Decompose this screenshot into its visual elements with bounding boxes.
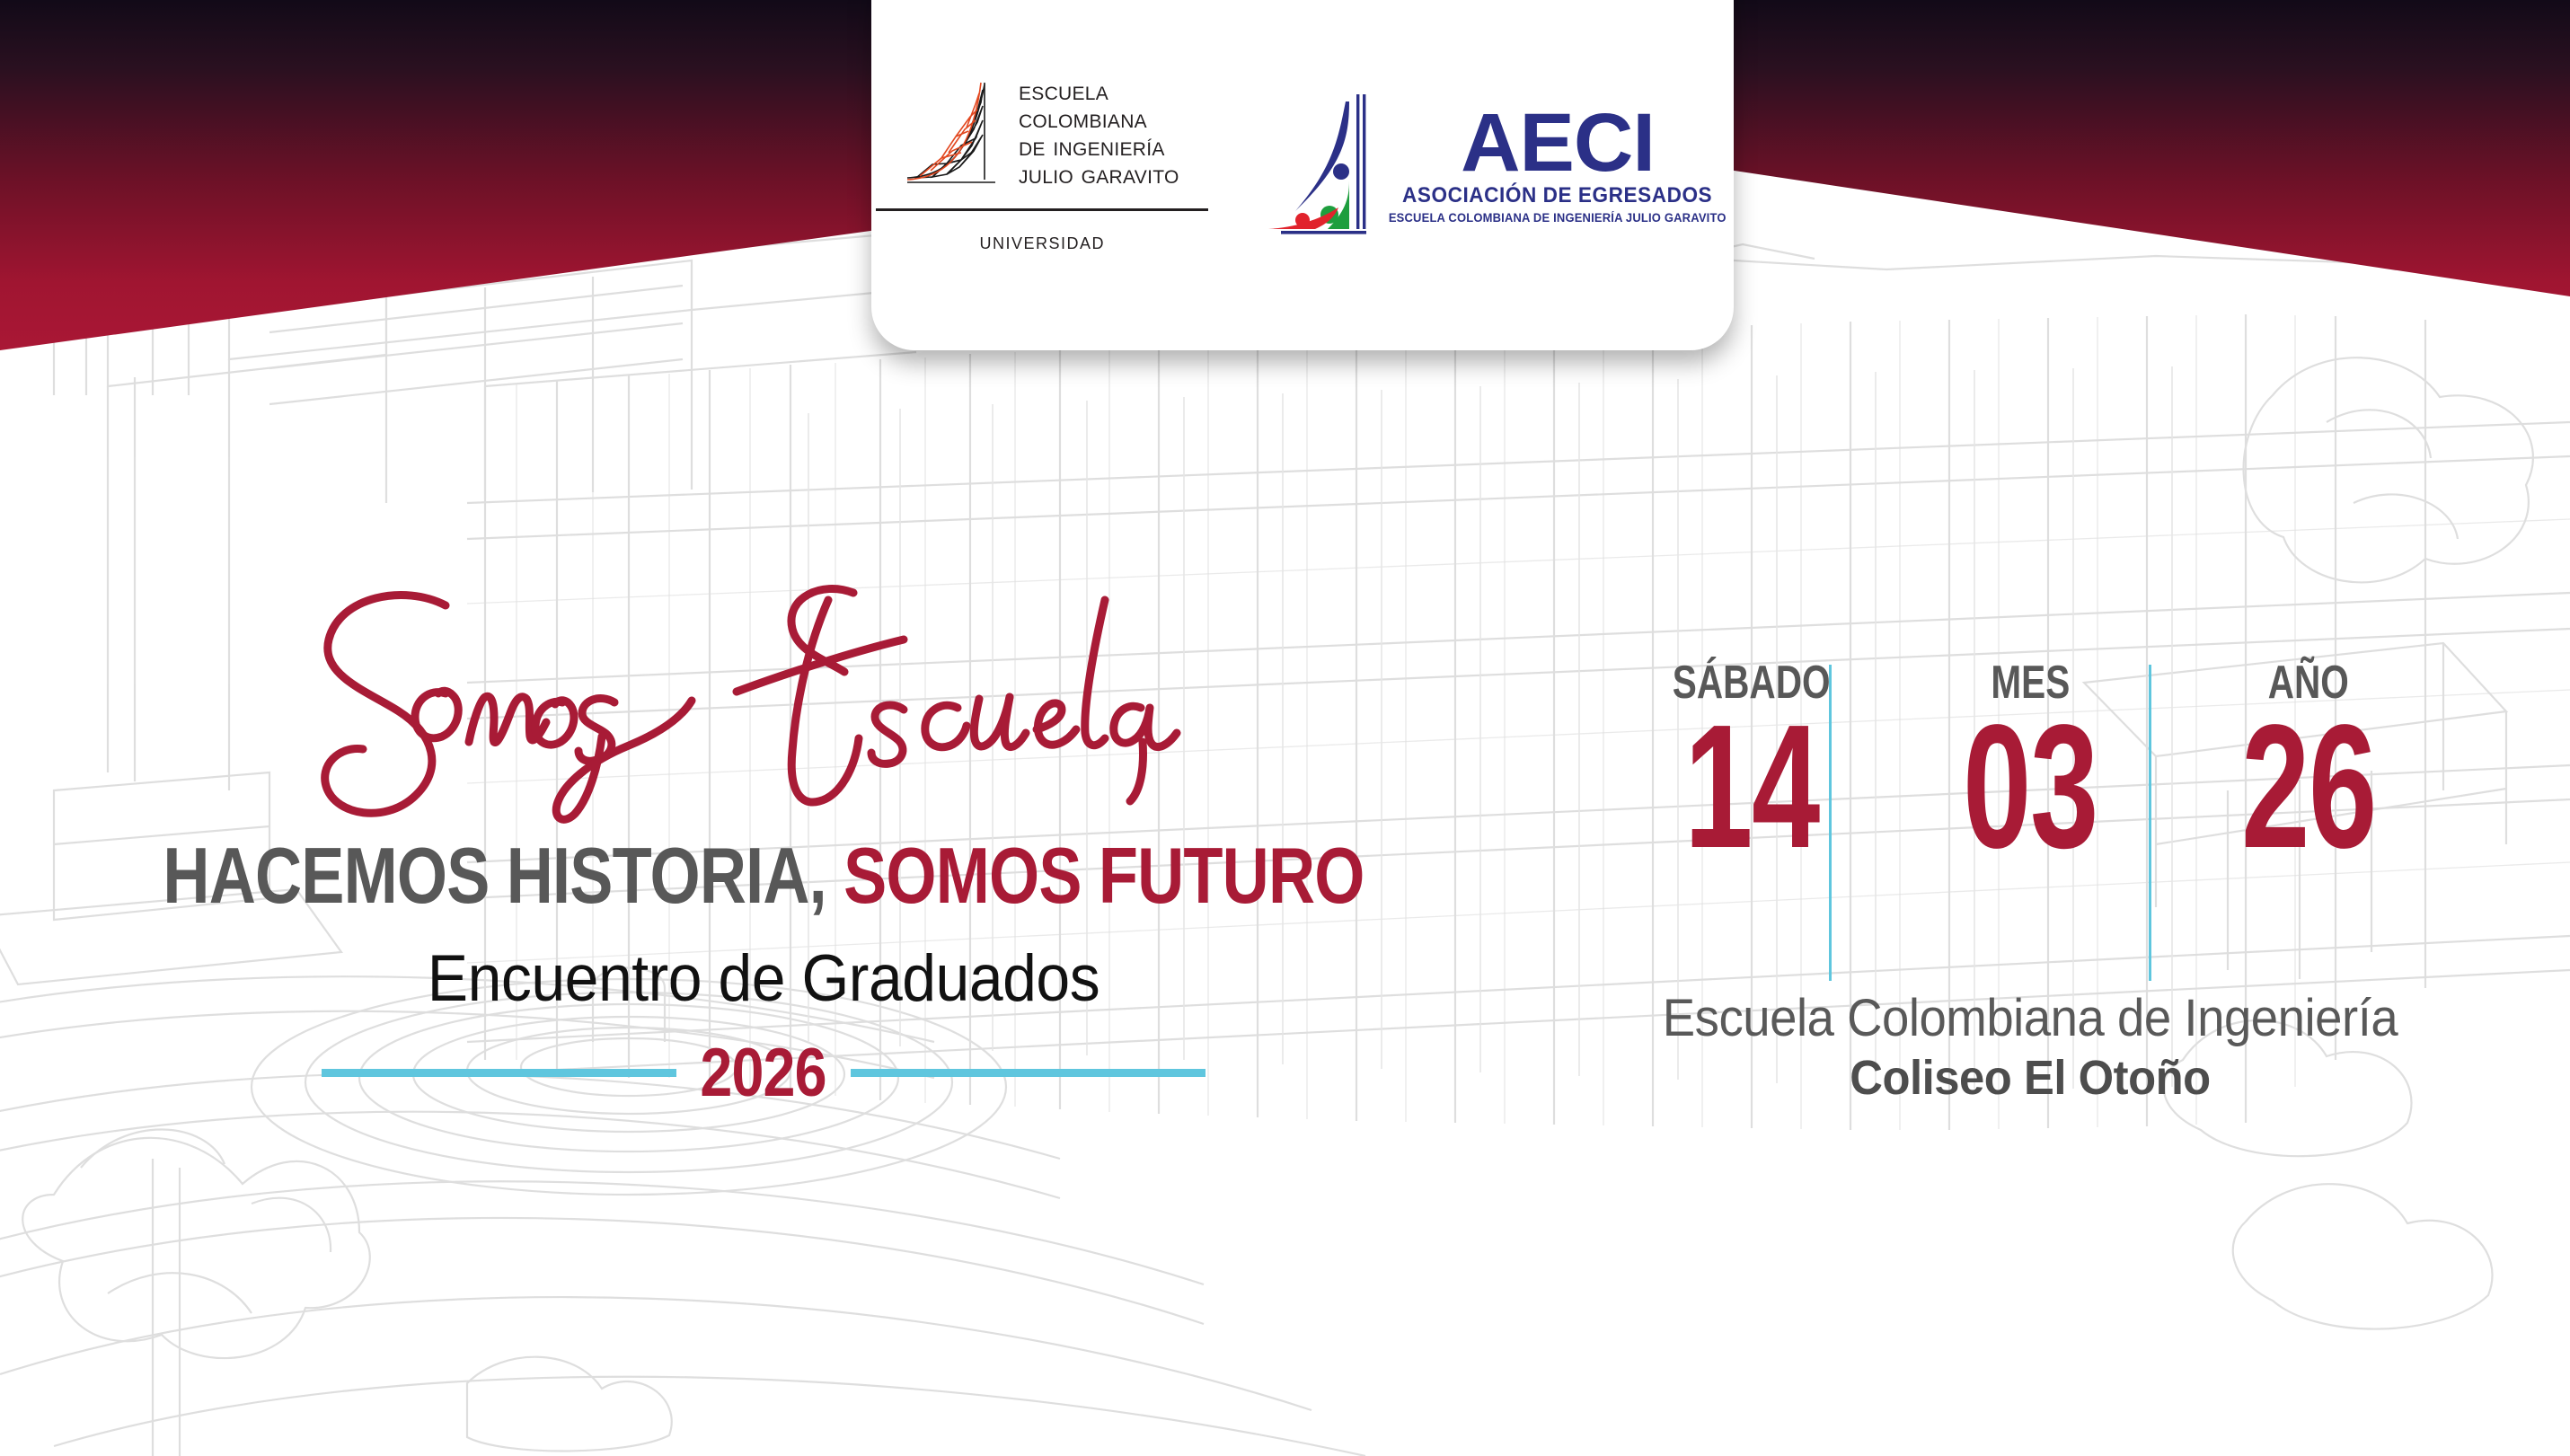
alumni-logo-caption: ESCUELA COLOMBIANA DE INGENIERÍA JULIO G… [1389,211,1727,225]
year-row: 2026 [0,1034,1527,1112]
aeci-figures-mark [1256,85,1373,247]
date-value-day: 14 [1684,711,1819,863]
headline-block: HACEMOS HISTORIA, SOMOS FUTURO Encuentro… [0,575,1527,1112]
venue-place: Coliseo El Otoño [1558,1050,2504,1106]
date-column-year: AÑO 26 [2169,656,2448,863]
date-column-day: SÁBADO 14 [1612,656,1891,863]
year-rule-right [851,1069,1206,1077]
alumni-logo: AECI ASOCIACIÓN DE EGRESADOS ESCUELA COL… [1256,85,1733,247]
tagline-red: SOMOS FUTURO [843,831,1364,920]
university-logo-line-3: de Ingeniería [1019,133,1179,161]
date-value-year: 26 [2241,711,2376,863]
venue-institution: Escuela Colombiana de Ingeniería [1558,988,2504,1048]
date-column-month: MES 03 [1891,656,2169,863]
eci-curve-mark [905,81,1006,189]
university-logo-wordmark: Escuela Colombiana de Ingeniería Julio G… [1019,77,1179,190]
logo-card: Escuela Colombiana de Ingeniería Julio G… [871,0,1734,350]
university-logo: Escuela Colombiana de Ingeniería Julio G… [871,77,1213,256]
date-divider-2 [2149,665,2151,981]
tagline: HACEMOS HISTORIA, SOMOS FUTURO [137,830,1390,922]
date-columns: SÁBADO 14 MES 03 AÑO 26 [1527,656,2533,979]
date-divider-1 [1829,665,1832,981]
tagline-gray: HACEMOS HISTORIA, [163,831,826,920]
university-logo-descriptor: Universidad [980,229,1106,255]
date-block: SÁBADO 14 MES 03 AÑO 26 Escuela Colombia… [1527,656,2533,1106]
university-logo-divider [876,208,1208,211]
script-title-artwork [269,575,1258,835]
alumni-logo-subtitle: ASOCIACIÓN DE EGRESADOS [1402,183,1712,208]
event-year: 2026 [690,1034,837,1112]
script-title [269,575,1258,835]
alumni-logo-acronym: AECI [1461,108,1655,179]
university-logo-line-2: Colombiana [1019,105,1179,133]
date-value-month: 03 [1963,711,2098,863]
year-rule-left [322,1069,676,1077]
event-subtitle: Encuentro de Graduados [54,941,1474,1016]
university-logo-line-1: Escuela [1019,77,1179,105]
university-logo-line-4: Julio Garavito [1019,161,1179,189]
